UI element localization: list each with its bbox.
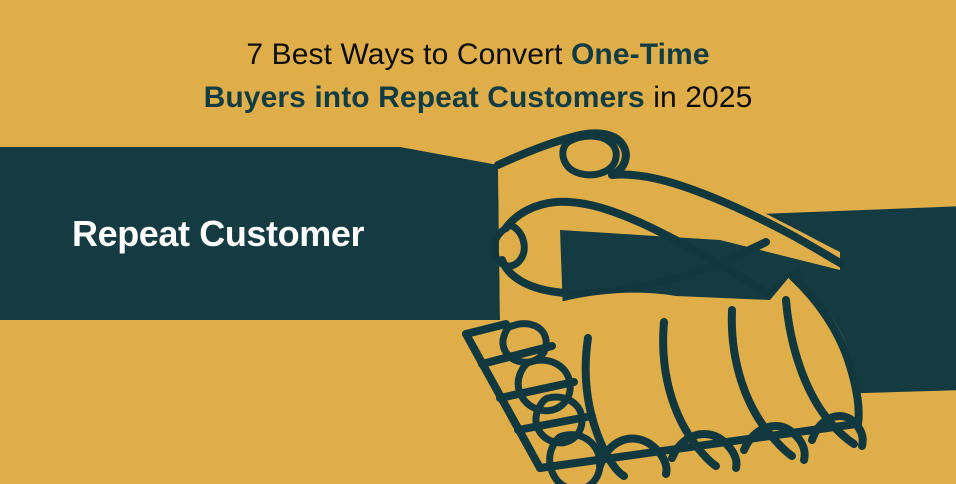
- headline-line-2-plain: in 2025: [645, 81, 753, 114]
- banner-graphic: 7 Best Ways to Convert One-Time Buyers i…: [0, 0, 956, 484]
- handshake-illustration: [0, 110, 956, 484]
- handshake-svg: [0, 110, 956, 484]
- headline-line-1: 7 Best Ways to Convert One-Time: [0, 34, 956, 77]
- headline-line-2-emphasis: Buyers into Repeat Customers: [204, 81, 645, 114]
- band-caption: Repeat Customer: [72, 213, 364, 255]
- headline-line-2: Buyers into Repeat Customers in 2025: [0, 77, 956, 120]
- headline-line-1-plain: 7 Best Ways to Convert: [246, 38, 571, 71]
- headline-line-1-emphasis: One-Time: [571, 38, 710, 71]
- page-title: 7 Best Ways to Convert One-Time Buyers i…: [0, 34, 956, 119]
